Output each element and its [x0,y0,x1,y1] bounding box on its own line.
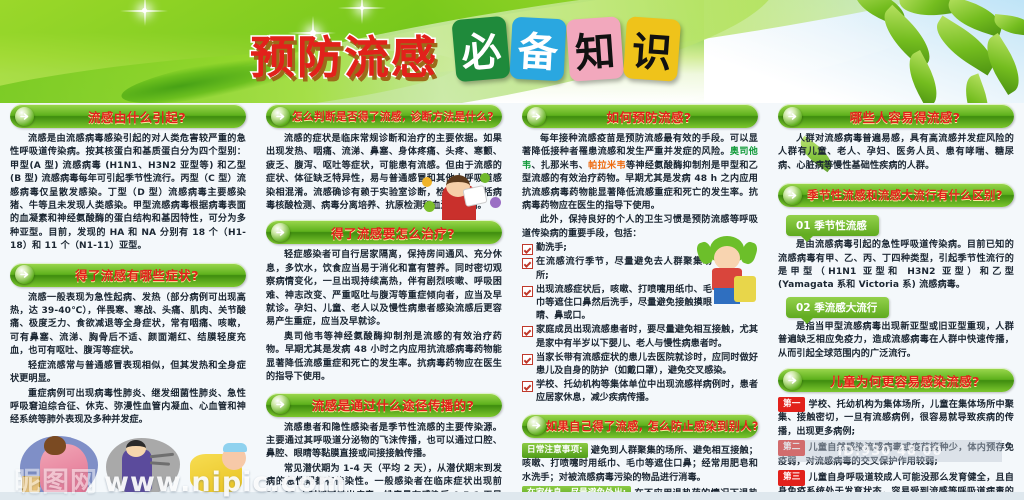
section-header[interactable]: 得了流感有哪些症状? [10,263,246,287]
section-header[interactable]: 哪些人容易得流感? [778,104,1014,128]
body-paragraph: 流感患者和隐性感染者是季节性流感的主要传染源。主要通过其呼吸道分泌物的飞沫传播，… [266,422,502,462]
body-paragraph: 人群对流感病毒普遍易感，具有高流感并发症风险的人群有儿童、老人、孕妇、医务人员、… [778,133,1014,173]
list-item-label: 勤洗手; [536,242,567,255]
section-header-label: 流感由什么引起? [34,107,246,126]
list-item-label: 当家长带有流感症状的患儿去医院就诊时，应同时做好患儿及自身的防护（如戴口罩），避… [536,352,758,378]
section-header-label: 得了流感要怎么治疗? [290,223,502,242]
title-tiles: 必 备 知 识 [454,18,679,80]
section-header-label: 得了流感有哪些症状? [34,265,246,284]
list-item-label: 学校、托幼机构等集体单位中出现流感样病例时，患者应居家休息，减少疾病传播。 [536,379,758,405]
list-item-label: 在流感流行季节，尽量避免去人群聚集场所; [536,256,712,282]
section-header[interactable]: 儿童为何更容易感染流感? [778,368,1014,392]
body-paragraph: 轻症感染者可自行居家隔离，保持房间通风、充分休息，多饮水，饮食应当易于消化和富有… [266,249,502,329]
title-tile-3: 知 [566,16,624,82]
check-icon [522,244,533,255]
arrow-right-icon [783,186,802,205]
section-header[interactable]: 季节性流感和流感大流行有什么区别? [778,183,1014,207]
arrow-right-icon [783,371,802,390]
section-header-label: 哪些人容易得流感? [802,107,1014,126]
section-header[interactable]: 如何预防流感? [522,104,758,128]
arrow-right-icon [15,265,34,284]
section-header[interactable]: 流感是通过什么途径传播的? [266,393,502,417]
order-tag-1: 第一 [778,397,805,412]
sparkle-icon [360,6,364,10]
arrow-right-icon [271,395,290,414]
title-tile-1: 必 [451,16,510,82]
check-icon [522,258,533,269]
arrow-right-icon [15,107,34,126]
drug-name-orange: 帕拉米韦 [588,161,626,171]
title-main: 预防流感 [250,35,438,80]
poster-title: 预防流感 必 备 知 识 [250,18,679,80]
subsection-chip-02: 02 季流感大流行 [786,297,889,318]
list-item: 家庭成员出现流感患者时，要尽量避免相互接触，尤其是家中有半岁以下婴儿、老人与慢性… [522,324,758,350]
section-header-label: 如果自己得了流感, 怎么防止感染到别人? [546,418,758,434]
arrow-right-icon [271,107,290,126]
leaves-decoration [834,0,1024,103]
list-item: 学校、托幼机构等集体单位中出现流感样病例时，患者应居家休息，减少疾病传播。 [522,379,758,405]
body-paragraph: 每年接种流感疫苗是预防流感最有效的手段。可以显著降低接种者罹患流感和发生严重并发… [522,133,758,213]
body-paragraph: 轻症流感常与普通感冒表现相似，但其发热和全身症状更明显。 [10,360,246,387]
arrow-right-icon [527,416,546,435]
watermark-cn: 昵图网 [14,467,98,498]
column-2: 怎么判断是否得了流感, 诊断方法是什么? 流感的症状是临床常规诊断和治疗的主要依… [256,100,512,500]
body-paragraph: 是由流感病毒引起的急性呼吸道传染病。目前已知的流感病毒有甲、乙、丙、丁四种类型，… [778,239,1014,293]
arrow-right-icon [527,107,546,126]
column-3: 如何预防流感? 每年接种流感疫苗是预防流感最有效的手段。可以显著降低接种者罹患流… [512,100,768,500]
section-header[interactable]: 如果自己得了流感, 怎么防止感染到别人? [522,414,758,438]
section-header-label: 季节性流感和流感大流行有什么区别? [802,187,1014,203]
title-tile-4: 识 [623,16,681,82]
section-header[interactable]: 怎么判断是否得了流感, 诊断方法是什么? [266,104,502,128]
watermark-url: www.nipic.com [104,467,346,498]
poster-root: 预防流感 必 备 知 识 流感由什么引起? 流感是由流感病毒感染引起的对人类危害… [0,0,1024,500]
watermark: 昵图网www.nipic.com [14,460,346,499]
person-head-icon [126,440,146,457]
order-tag-3: 第三 [778,470,805,485]
ice-pack-icon [223,443,247,452]
arrow-right-icon [783,107,802,126]
order-tag-text: 学校、托幼机构为集体场所，儿童在集体场所中聚集、接触密切，一旦有流感病例，很容易… [778,400,1014,437]
body-paragraph: 流感一般表现为急性起病、发热（部分病例可出现高热，达 39-40℃），伴畏寒、寒… [10,292,246,359]
intro-text: 每年接种流感疫苗是预防流感最有效的手段。可以显著降低接种者罹患流感和发生严重并发… [522,134,758,157]
list-item-label: 出现流感症状后，咳嗽、打喷嚏用纸巾、毛巾等遮住口鼻然后洗手，尽量避免接触摸眼睛、… [536,284,712,324]
sparkle-icon [142,8,147,13]
check-icon [522,326,533,337]
title-tile-2: 备 [509,17,566,82]
list-item: 当家长带有流感症状的患儿去医院就诊时，应同时做好患儿及自身的防护（如戴口罩），避… [522,352,758,378]
section-header-label: 儿童为何更容易感染流感? [802,371,1014,390]
watermark-id: ID:930 48 00 [778,440,1002,462]
section-header-label: 如何预防流感? [546,107,758,126]
subsection-chip-01: 01 季节性流感 [786,215,879,236]
check-icon [522,354,533,365]
body-paragraph: 重症病例可出现病毒性肺炎、继发细菌性肺炎、急性呼吸窘迫综合征、休克、弥漫性血管内… [10,388,246,428]
list-item-label: 家庭成员出现流感患者时，要尽量避免相互接触，尤其是家中有半岁以下婴儿、老人与慢性… [536,324,758,350]
body-paragraph: 流感是由流感病毒感染引起的对人类危害较严重的急性呼吸道传染病。按其核蛋白和基质蛋… [10,133,246,254]
body-paragraph: 是指当甲型流感病毒出现新亚型或旧亚型重现，人群普遍缺乏相应免疫力，造成流感病毒在… [778,321,1014,361]
body-paragraph: 奥司他韦等神经氨酸酶抑制剂是流感的有效治疗药物。早期尤其是发病 48 小时之内应… [266,331,502,385]
person-head-icon [44,436,66,455]
section-header-label: 流感是通过什么途径传播的? [290,395,502,414]
body-paragraph: 日常注意事项:避免到人群聚集的场所、避免相互接触；咳嗽、打喷嚏时用纸巾、毛巾等遮… [522,443,758,485]
drug-name-black: 扎那米韦 [541,161,579,171]
section-header[interactable]: 得了流感要怎么治疗? [266,220,502,244]
section-header[interactable]: 流感由什么引起? [10,104,246,128]
body-paragraph: 第一学校、托幼机构为集体场所，儿童在集体场所中聚集、接触密切，一旦有流感病例，很… [778,397,1014,439]
section-header-label: 怎么判断是否得了流感, 诊断方法是什么? [290,109,502,124]
illustration-girl-washing-hands [696,236,760,312]
arrow-right-icon [271,223,290,242]
check-icon [522,286,533,297]
column-1: 流感由什么引起? 流感是由流感病毒感染引起的对人类危害较严重的急性呼吸道传染病。… [0,100,256,500]
inline-tag: 日常注意事项: [522,443,588,458]
check-icon [522,381,533,392]
